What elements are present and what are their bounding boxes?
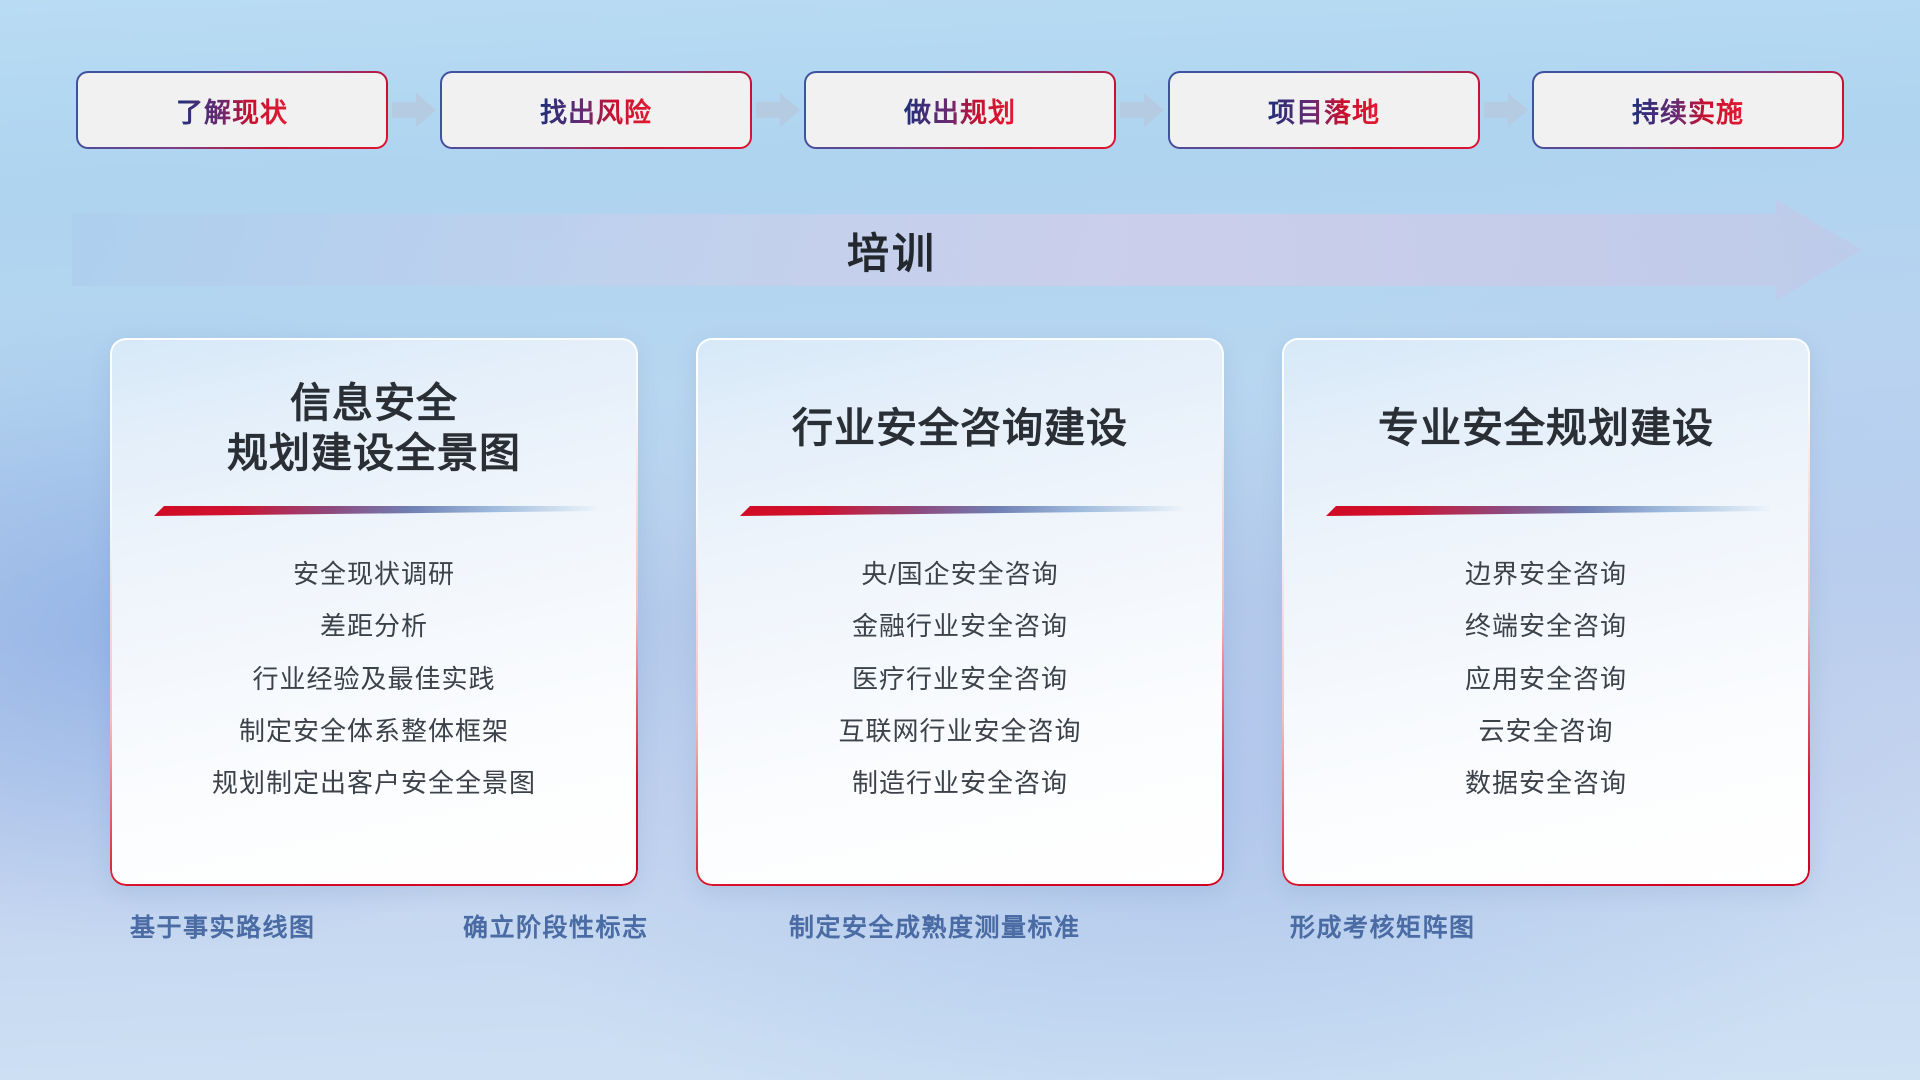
card-title: 信息安全 规划建设全景图 bbox=[227, 376, 521, 480]
list-item: 制定安全体系整体框架 bbox=[239, 711, 509, 751]
card-professional-security-planning[interactable]: 专业安全规划建设 边界安全咨询 终端安 bbox=[1282, 338, 1810, 886]
stage-box-5[interactable]: 持续实施 bbox=[1534, 73, 1842, 147]
stage-flow-row: 了解现状 找出风险 做出规划 项目落地 持续实施 bbox=[0, 72, 1920, 148]
list-item: 制造行业安全咨询 bbox=[852, 763, 1068, 803]
list-item: 安全现状调研 bbox=[293, 554, 455, 594]
list-item: 医疗行业安全咨询 bbox=[852, 659, 1068, 699]
stage-box-2[interactable]: 找出风险 bbox=[442, 73, 750, 147]
list-item: 应用安全咨询 bbox=[1465, 659, 1627, 699]
footnote-4: 形成考核矩阵图 bbox=[1290, 908, 1476, 944]
list-item: 规划制定出客户安全全景图 bbox=[212, 763, 536, 803]
card-list: 央/国企安全咨询 金融行业安全咨询 医疗行业安全咨询 互联网行业安全咨询 制造行… bbox=[730, 554, 1190, 803]
card-industry-security-consulting[interactable]: 行业安全咨询建设 央/国企安全咨询 金 bbox=[696, 338, 1224, 886]
stage-label: 项目落地 bbox=[1268, 91, 1380, 130]
card-divider bbox=[150, 502, 598, 522]
list-item: 互联网行业安全咨询 bbox=[838, 711, 1081, 751]
footnote-row: 基于事实路线图 确立阶段性标志 制定安全成熟度测量标准 形成考核矩阵图 bbox=[0, 908, 1920, 968]
list-item: 数据安全咨询 bbox=[1465, 763, 1627, 803]
stage-box-4[interactable]: 项目落地 bbox=[1170, 73, 1478, 147]
list-item: 云安全咨询 bbox=[1478, 711, 1613, 751]
stage-box-3[interactable]: 做出规划 bbox=[806, 73, 1114, 147]
stage-label: 了解现状 bbox=[176, 91, 288, 130]
stage-arrow-icon-3 bbox=[1114, 73, 1170, 147]
card-divider bbox=[736, 502, 1184, 522]
list-item: 央/国企安全咨询 bbox=[861, 554, 1058, 594]
card-row: 信息安全 规划建设全景图 安全现状调研 bbox=[0, 338, 1920, 888]
training-banner: 培训 bbox=[72, 200, 1862, 300]
list-item: 金融行业安全咨询 bbox=[852, 606, 1068, 646]
card-title: 行业安全咨询建设 bbox=[792, 376, 1128, 480]
stage-arrow-icon-2 bbox=[750, 73, 806, 147]
card-divider bbox=[1322, 502, 1770, 522]
stage-label: 做出规划 bbox=[904, 91, 1016, 130]
footnote-1: 基于事实路线图 bbox=[130, 908, 316, 944]
stage-label: 找出风险 bbox=[540, 91, 652, 130]
footnote-2: 确立阶段性标志 bbox=[463, 908, 649, 944]
stage-box-1[interactable]: 了解现状 bbox=[78, 73, 386, 147]
card-information-security-blueprint[interactable]: 信息安全 规划建设全景图 安全现状调研 bbox=[110, 338, 638, 886]
card-title: 专业安全规划建设 bbox=[1378, 376, 1714, 480]
list-item: 行业经验及最佳实践 bbox=[252, 659, 495, 699]
footnote-3: 制定安全成熟度测量标准 bbox=[789, 908, 1081, 944]
stage-arrow-icon-4 bbox=[1478, 73, 1534, 147]
stage-arrow-icon-1 bbox=[386, 73, 442, 147]
card-list: 边界安全咨询 终端安全咨询 应用安全咨询 云安全咨询 数据安全咨询 bbox=[1316, 554, 1776, 803]
list-item: 差距分析 bbox=[320, 606, 428, 646]
card-list: 安全现状调研 差距分析 行业经验及最佳实践 制定安全体系整体框架 规划制定出客户… bbox=[144, 554, 604, 803]
stage-label: 持续实施 bbox=[1632, 91, 1744, 130]
list-item: 终端安全咨询 bbox=[1465, 606, 1627, 646]
list-item: 边界安全咨询 bbox=[1465, 554, 1627, 594]
banner-title: 培训 bbox=[72, 200, 1712, 300]
